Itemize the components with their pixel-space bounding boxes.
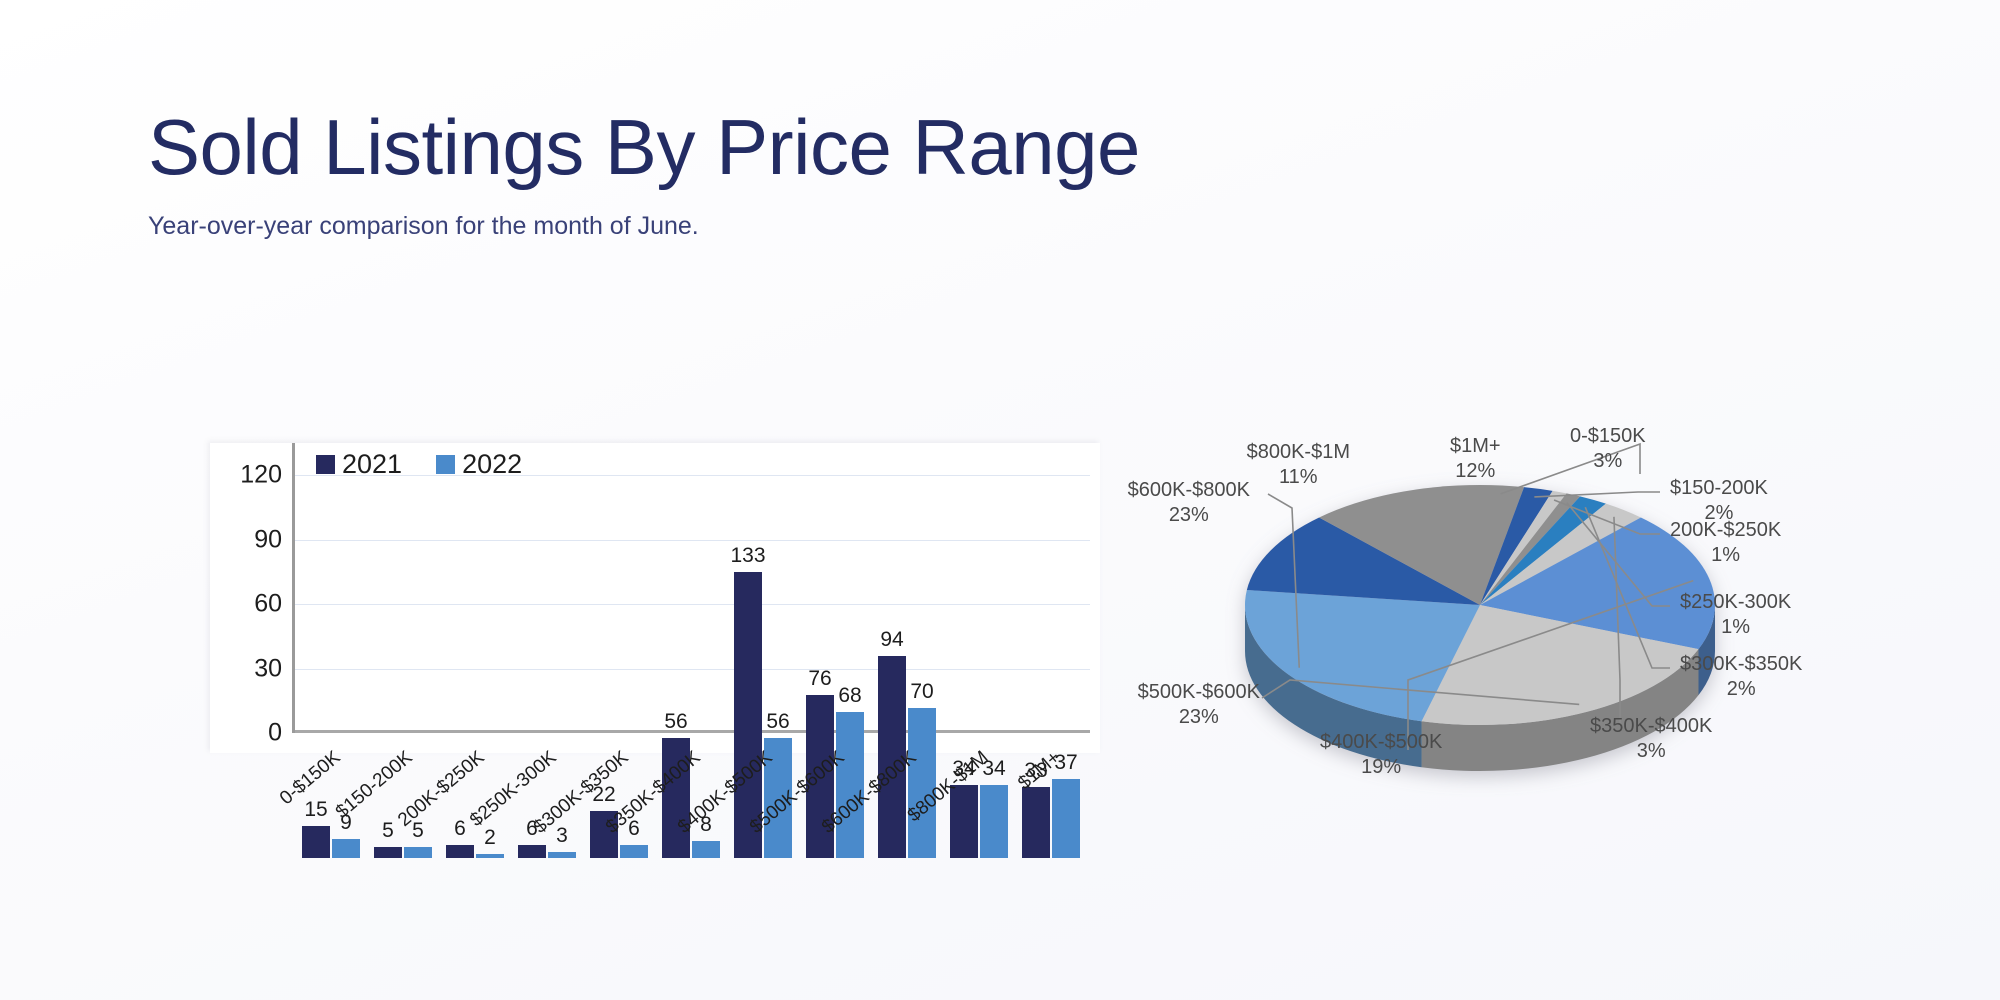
pie-label-name: 0-$150K — [1570, 424, 1646, 449]
bar-chart-legend: 20212022 — [316, 449, 522, 480]
legend-label: 2021 — [342, 449, 402, 480]
pie-label-$500K-$600K: $500K-$600K23% — [1138, 680, 1260, 730]
legend-swatch-icon — [316, 455, 335, 474]
bar-value-label: 68 — [838, 684, 861, 708]
pie-label-percent: 23% — [1138, 705, 1260, 730]
pie-label-name: 200K-$250K — [1670, 518, 1781, 543]
pie-label-$1M+: $1M+12% — [1450, 434, 1501, 484]
pie-label-percent: 2% — [1680, 677, 1802, 702]
x-axis-tick-label: 0-$150K — [276, 747, 345, 810]
pie-label-name: $500K-$600K — [1138, 680, 1260, 705]
bar-value-label: 133 — [730, 544, 765, 568]
pie-label-percent: 1% — [1680, 615, 1791, 640]
pie-chart: $800K-$1M11%$1M+12%0-$150K3%$150-200K2%2… — [1140, 430, 1980, 850]
y-axis-tick-label: 30 — [254, 654, 282, 683]
page-title: Sold Listings By Price Range — [148, 108, 1140, 186]
pie-label-percent: 11% — [1247, 465, 1350, 490]
bar-value-label: 56 — [766, 710, 789, 734]
bar-rect — [476, 854, 504, 858]
pie-label-percent: 3% — [1590, 739, 1712, 764]
gridline — [295, 540, 1090, 541]
bar-value-label: 94 — [880, 628, 903, 652]
y-axis-tick-label: 90 — [254, 525, 282, 554]
pie-label-name: $800K-$1M — [1247, 440, 1350, 465]
pie-label-name: $1M+ — [1450, 434, 1501, 459]
legend-item-2022[interactable]: 2022 — [436, 449, 522, 480]
page-header: Sold Listings By Price Range Year-over-y… — [148, 108, 1140, 241]
pie-label-percent: 23% — [1128, 503, 1250, 528]
pie-label-name: $400K-$500K — [1320, 730, 1442, 755]
pie-label-$600K-$800K: $600K-$800K23% — [1128, 478, 1250, 528]
pie-label-$400K-$500K: $400K-$500K19% — [1320, 730, 1442, 780]
pie-label-$250K-300K: $250K-300K1% — [1680, 590, 1791, 640]
pie-label-0-$150K: 0-$150K3% — [1570, 424, 1646, 474]
pie-label-percent: 12% — [1450, 459, 1501, 484]
pie-label-percent: 3% — [1570, 449, 1646, 474]
pie-label-name: $300K-$350K — [1680, 652, 1802, 677]
x-axis-tick-label: $1M+ — [1014, 747, 1065, 795]
pie-label-percent: 19% — [1320, 755, 1442, 780]
legend-swatch-icon — [436, 455, 455, 474]
pie-label-$300K-$350K: $300K-$350K2% — [1680, 652, 1802, 702]
bar-chart-y-axis: 0306090120 — [210, 443, 282, 733]
bar-chart: 0306090120 20212022 15955626322656813356… — [210, 443, 1100, 858]
x-axis-tick: $1M+ — [1015, 743, 1087, 853]
pie-label-200K-$250K: 200K-$250K1% — [1670, 518, 1781, 568]
bar-chart-x-axis: 0-$150K$150-200K200K-$250K$250K-300K$300… — [295, 743, 1087, 853]
pie-label-percent: 1% — [1670, 543, 1781, 568]
pie-label-name: $150-200K — [1670, 476, 1768, 501]
bar-value-label: 70 — [910, 680, 933, 704]
legend-item-2021[interactable]: 2021 — [316, 449, 402, 480]
bar-value-label: 56 — [664, 710, 687, 734]
pie-label-name: $600K-$800K — [1128, 478, 1250, 503]
page-subtitle: Year-over-year comparison for the month … — [148, 212, 1140, 241]
y-axis-tick-label: 0 — [268, 719, 282, 748]
y-axis-tick-label: 120 — [240, 461, 282, 490]
y-axis-tick-label: 60 — [254, 590, 282, 619]
pie-label-$350K-$400K: $350K-$400K3% — [1590, 714, 1712, 764]
bar-value-label: 76 — [808, 667, 831, 691]
pie-label-name: $250K-300K — [1680, 590, 1791, 615]
legend-label: 2022 — [462, 449, 522, 480]
pie-chart-svg — [1140, 430, 1980, 850]
pie-label-name: $350K-$400K — [1590, 714, 1712, 739]
pie-label-$800K-$1M: $800K-$1M11% — [1247, 440, 1350, 490]
x-axis-tick: $800K-$1M — [943, 743, 1015, 853]
